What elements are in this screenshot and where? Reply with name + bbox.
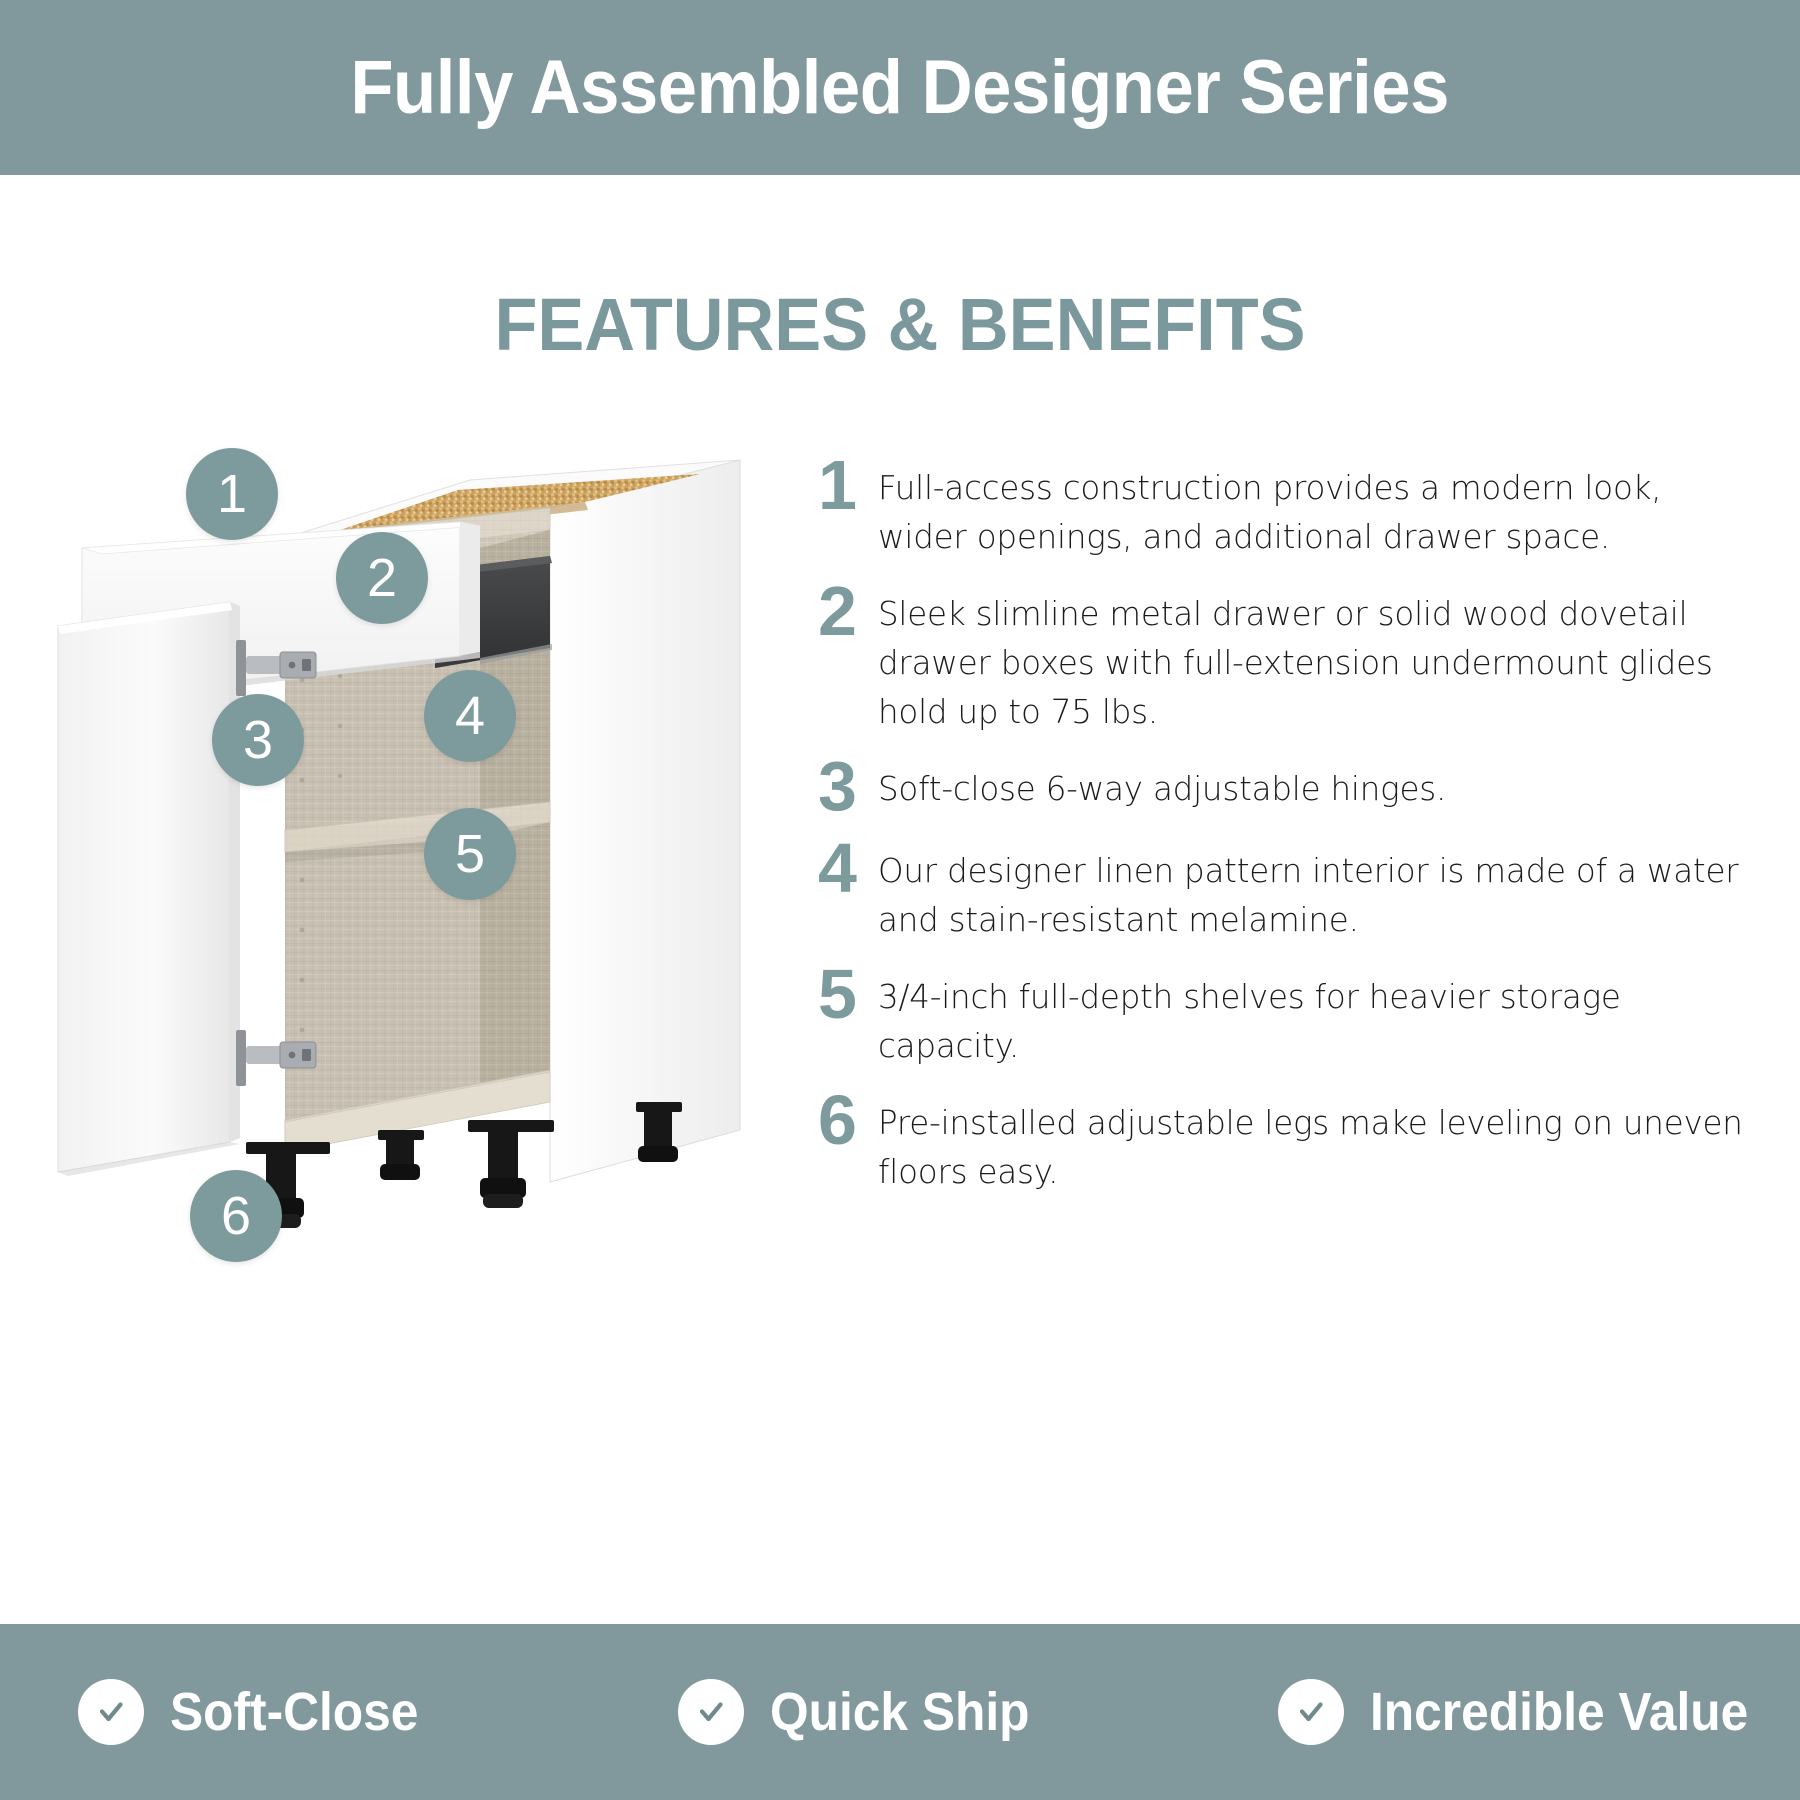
check-circle-icon — [78, 1679, 144, 1745]
callout-4: 4 — [424, 670, 516, 762]
callout-5: 5 — [424, 808, 516, 900]
feature-number-6: 6 — [800, 1087, 878, 1153]
callout-1: 1 — [186, 448, 278, 540]
feature-number-3: 3 — [800, 753, 878, 819]
feature-item-5: 5 3/4-inch full-depth shelves for heavie… — [800, 961, 1760, 1071]
feature-item-1: 1 Full-access construction provides a mo… — [800, 452, 1760, 562]
feature-text-5: 3/4-inch full-depth shelves for heavier … — [878, 961, 1760, 1071]
header-band: Fully Assembled Designer Series — [0, 0, 1800, 175]
feature-text-2: Sleek slimline metal drawer or solid woo… — [878, 578, 1760, 737]
feature-item-6: 6 Pre-installed adjustable legs make lev… — [800, 1087, 1760, 1197]
callout-2: 2 — [336, 532, 428, 624]
page-title: Fully Assembled Designer Series — [351, 44, 1450, 131]
feature-item-3: 3 Soft-close 6-way adjustable hinges. — [800, 753, 1760, 819]
feature-number-2: 2 — [800, 578, 878, 644]
section-heading: FEATURES & BENEFITS — [45, 282, 1755, 367]
footer-badge-soft-close: Soft-Close — [0, 1679, 600, 1745]
features-list: 1 Full-access construction provides a mo… — [800, 452, 1760, 1213]
feature-number-1: 1 — [800, 452, 878, 518]
callout-6: 6 — [190, 1170, 282, 1262]
check-circle-icon — [1278, 1679, 1344, 1745]
feature-text-3: Soft-close 6-way adjustable hinges. — [878, 753, 1760, 814]
callout-3: 3 — [212, 694, 304, 786]
footer-badge-label-2: Quick Ship — [770, 1681, 1029, 1743]
footer-badge-label-1: Soft-Close — [170, 1681, 418, 1743]
footer-band: Soft-Close Quick Ship Incredible Value — [0, 1624, 1800, 1800]
feature-item-4: 4 Our designer linen pattern interior is… — [800, 835, 1760, 945]
feature-text-4: Our designer linen pattern interior is m… — [878, 835, 1760, 945]
feature-text-1: Full-access construction provides a mode… — [878, 452, 1760, 562]
feature-text-6: Pre-installed adjustable legs make level… — [878, 1087, 1760, 1197]
footer-badge-label-3: Incredible Value — [1370, 1681, 1748, 1743]
feature-item-2: 2 Sleek slimline metal drawer or solid w… — [800, 578, 1760, 737]
feature-number-5: 5 — [800, 961, 878, 1027]
footer-badge-incredible-value: Incredible Value — [1200, 1679, 1800, 1745]
feature-number-4: 4 — [800, 835, 878, 901]
product-illustration: 1 2 3 4 5 6 — [40, 430, 800, 1330]
footer-badge-quick-ship: Quick Ship — [600, 1679, 1200, 1745]
check-circle-icon — [678, 1679, 744, 1745]
